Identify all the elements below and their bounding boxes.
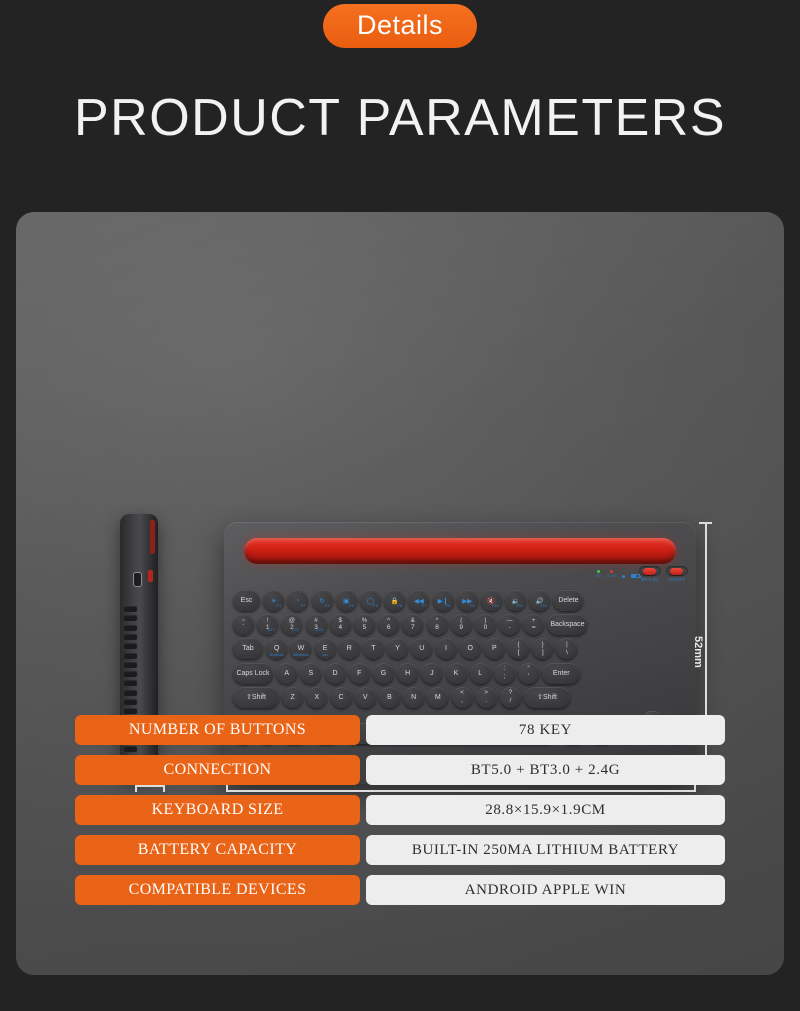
keyboard-row-qwerty: TabQAndroidWWindowsEiosRTYUIOP{[}]|\ bbox=[233, 638, 687, 659]
keyboard-key[interactable]: |\ bbox=[556, 638, 577, 659]
keyboard-key[interactable]: ◯F5 bbox=[360, 590, 381, 611]
key-secondary-legend: F8 bbox=[446, 604, 451, 608]
spec-label: CONNECTION bbox=[75, 755, 360, 785]
key-legend-stack: >. bbox=[484, 690, 488, 704]
key-secondary-legend: F11 bbox=[516, 604, 523, 608]
key-primary-legend: L bbox=[478, 670, 482, 677]
keyboard-key[interactable]: A bbox=[276, 663, 297, 684]
key-primary-legend: V bbox=[363, 694, 368, 701]
led-dot-icon bbox=[610, 570, 613, 573]
key-primary-legend: P bbox=[492, 645, 497, 652]
side-profile-key-edge bbox=[124, 615, 137, 621]
side-profile-key-edge bbox=[124, 643, 137, 649]
key-primary-legend: N bbox=[411, 694, 416, 701]
led-indicator-label: 2.4G bbox=[607, 574, 616, 578]
keyboard-key[interactable]: Tab bbox=[233, 638, 263, 659]
keyboard-key[interactable]: ☀F1 bbox=[263, 590, 284, 611]
keyboard-key[interactable]: Y bbox=[387, 638, 408, 659]
keyboard-key[interactable]: 🔊F12 bbox=[529, 590, 550, 611]
keyboard-key[interactable]: @2BT2 bbox=[281, 614, 302, 635]
switch-label: BT/2.4G bbox=[642, 577, 659, 582]
key-legend-stack: )0 bbox=[484, 618, 488, 632]
keyboard-key[interactable]: Caps Lock bbox=[233, 663, 273, 684]
dimension-tick-depth-top bbox=[699, 522, 712, 524]
key-secondary-legend: ios bbox=[315, 653, 336, 657]
spec-value: 78 KEY bbox=[366, 715, 725, 745]
keyboard-key[interactable]: ▶❙F8 bbox=[433, 590, 454, 611]
spec-value: BUILT-IN 250MA LITHIUM BATTERY bbox=[366, 835, 725, 865]
spec-label: COMPATIBLE DEVICES bbox=[75, 875, 360, 905]
side-profile-key-edge bbox=[124, 690, 137, 696]
keyboard-key[interactable]: ⇧Shift bbox=[524, 687, 570, 708]
key-legend-stack: {[ bbox=[518, 642, 520, 656]
key-legend-stack: <, bbox=[460, 690, 464, 704]
key-primary-legend: C bbox=[339, 694, 344, 701]
keyboard-key[interactable]: :; bbox=[494, 663, 515, 684]
keyboard-key[interactable]: —- bbox=[499, 614, 520, 635]
keyboard-key[interactable]: QAndroid bbox=[266, 638, 287, 659]
details-badge: Details bbox=[323, 4, 477, 48]
key-legend-stack: $4 bbox=[338, 618, 342, 632]
keyboard-row-shift: ⇧ShiftZXCVBNM<,>.?/⇧Shift bbox=[233, 687, 687, 708]
key-secondary-legend: BT1 bbox=[268, 628, 275, 632]
status-led-indicators: BT2.4G bbox=[596, 570, 640, 578]
keyboard-key[interactable]: U bbox=[411, 638, 432, 659]
keyboard-key[interactable]: Esc bbox=[233, 590, 260, 611]
key-primary-legend: S bbox=[309, 670, 314, 677]
key-secondary-legend: F1 bbox=[277, 604, 282, 608]
spec-value: 28.8×15.9×1.9CM bbox=[366, 795, 725, 825]
keyboard-key[interactable]: ↻F3 bbox=[312, 590, 333, 611]
spec-label: NUMBER OF BUTTONS bbox=[75, 715, 360, 745]
switch-label: ON/OFF bbox=[668, 577, 685, 582]
spec-row: CONNECTIONBT5.0 + BT3.0 + 2.4G bbox=[75, 755, 725, 785]
keyboard-key[interactable]: S bbox=[300, 663, 321, 684]
keyboard-key[interactable]: Eios bbox=[315, 638, 336, 659]
function-key-icon: ▫ bbox=[297, 597, 299, 604]
details-badge-container: Details bbox=[0, 0, 800, 48]
key-primary-legend: I bbox=[445, 645, 447, 652]
led-dot-icon bbox=[597, 570, 600, 573]
keyboard-key[interactable]: ▶▶F9 bbox=[457, 590, 478, 611]
keyboard-key[interactable]: I bbox=[436, 638, 457, 659]
keyboard-key[interactable]: Delete bbox=[553, 590, 583, 611]
side-profile-usb-port bbox=[133, 572, 142, 587]
keyboard-key[interactable]: 🔇F10 bbox=[481, 590, 502, 611]
key-primary-legend: X bbox=[315, 694, 320, 701]
side-profile-key-edge bbox=[124, 634, 137, 640]
keyboard-key[interactable]: ◀◀F7 bbox=[408, 590, 429, 611]
keyboard-key[interactable]: D bbox=[325, 663, 346, 684]
keyboard-key[interactable]: L bbox=[470, 663, 491, 684]
key-primary-legend: Tab bbox=[242, 645, 253, 652]
keyboard-key[interactable]: Z bbox=[282, 687, 303, 708]
keyboard-key[interactable]: O bbox=[460, 638, 481, 659]
key-primary-legend: Enter bbox=[553, 670, 570, 677]
key-secondary-legend: F6 bbox=[397, 604, 402, 608]
key-legend-stack: }] bbox=[542, 642, 544, 656]
key-legend-stack: ?/ bbox=[509, 690, 512, 704]
keyboard-key[interactable]: V bbox=[355, 687, 376, 708]
key-primary-legend: ⇧Shift bbox=[537, 694, 557, 701]
key-legend-stack: |\ bbox=[566, 642, 568, 656]
key-primary-legend: Y bbox=[395, 645, 400, 652]
key-secondary-legend: F7 bbox=[422, 604, 427, 608]
spec-value: BT5.0 + BT3.0 + 2.4G bbox=[366, 755, 725, 785]
led-indicator-label: BT bbox=[596, 574, 601, 578]
key-primary-legend: G bbox=[381, 670, 386, 677]
switch-knob[interactable] bbox=[643, 568, 656, 575]
keyboard-row-function: Esc☀F1▫F2↻F3▣F4◯F5🔒F6◀◀F7▶❙F8▶▶F9🔇F10🔉F1… bbox=[233, 590, 687, 611]
key-primary-legend: D bbox=[333, 670, 338, 677]
keyboard-key[interactable]: T bbox=[363, 638, 384, 659]
side-profile-key-edge bbox=[124, 662, 137, 668]
keyboard-key[interactable]: N bbox=[403, 687, 424, 708]
keyboard-key[interactable]: <, bbox=[452, 687, 473, 708]
bt-24g-mode-switch[interactable]: BT/2.4G bbox=[639, 566, 661, 582]
key-primary-legend: J bbox=[430, 670, 434, 677]
key-primary-legend: Z bbox=[291, 694, 295, 701]
key-primary-legend: R bbox=[347, 645, 352, 652]
key-secondary-legend: BT3 bbox=[316, 628, 323, 632]
keyboard-row-home: Caps LockASDFGHJKL:;"'Enter bbox=[233, 663, 687, 684]
keyboard-key[interactable]: G bbox=[373, 663, 394, 684]
spec-row: KEYBOARD SIZE28.8×15.9×1.9CM bbox=[75, 795, 725, 825]
key-legend-stack: += bbox=[532, 618, 536, 632]
keyboard-key[interactable]: ▫F2 bbox=[287, 590, 308, 611]
key-primary-legend: O bbox=[467, 645, 472, 652]
keyboard-row-numbers: ~`!1BT1@2BT2#3BT3$4%5^6&7*8(9)0—-+=Backs… bbox=[233, 614, 687, 635]
keyboard-key[interactable]: #3BT3 bbox=[306, 614, 327, 635]
keyboard-key[interactable]: K bbox=[446, 663, 467, 684]
key-secondary-legend: BT2 bbox=[292, 628, 299, 632]
spec-row: BATTERY CAPACITYBUILT-IN 250MA LITHIUM B… bbox=[75, 835, 725, 865]
key-primary-legend: F bbox=[357, 670, 361, 677]
specifications-table: NUMBER OF BUTTONS78 KEYCONNECTIONBT5.0 +… bbox=[75, 715, 725, 915]
spec-value: ANDROID APPLE WIN bbox=[366, 875, 725, 905]
key-legend-stack: (9 bbox=[459, 618, 463, 632]
spec-row: COMPATIBLE DEVICESANDROID APPLE WIN bbox=[75, 875, 725, 905]
keyboard-key[interactable]: Enter bbox=[542, 663, 580, 684]
led-indicator: BT bbox=[596, 570, 601, 578]
keyboard-key[interactable]: 🔉F11 bbox=[505, 590, 526, 611]
product-parameters-card: BT2.4G BT/2.4GON/OFF Esc☀F1▫F2↻F3▣F4◯F5🔒… bbox=[16, 212, 784, 975]
key-secondary-legend: F9 bbox=[470, 604, 475, 608]
key-secondary-legend: Android bbox=[266, 653, 287, 657]
keyboard-key[interactable]: P bbox=[484, 638, 505, 659]
device-holder-groove bbox=[244, 538, 676, 564]
keyboard-key[interactable]: ▣F4 bbox=[336, 590, 357, 611]
key-legend-stack: *8 bbox=[435, 618, 439, 632]
key-legend-stack: ^6 bbox=[387, 618, 391, 632]
spec-label: BATTERY CAPACITY bbox=[75, 835, 360, 865]
key-secondary-legend: F3 bbox=[325, 604, 330, 608]
key-primary-legend: K bbox=[454, 670, 459, 677]
led-indicator: 2.4G bbox=[607, 570, 616, 578]
key-primary-legend: Esc bbox=[241, 597, 253, 604]
keyboard-key[interactable]: += bbox=[523, 614, 544, 635]
side-profile-key-edge bbox=[124, 708, 137, 714]
spec-label: KEYBOARD SIZE bbox=[75, 795, 360, 825]
keyboard-key[interactable]: R bbox=[339, 638, 360, 659]
key-legend-stack: &7 bbox=[411, 618, 415, 632]
keyboard-key[interactable]: J bbox=[421, 663, 442, 684]
key-primary-legend: Caps Lock bbox=[236, 670, 269, 677]
keyboard-key[interactable]: *8 bbox=[427, 614, 448, 635]
key-secondary-legend: Windows bbox=[290, 653, 311, 657]
keyboard-key[interactable]: &7 bbox=[402, 614, 423, 635]
key-primary-legend: ⇧Shift bbox=[246, 694, 266, 701]
keyboard-key[interactable]: B bbox=[379, 687, 400, 708]
keyboard-key[interactable]: $4 bbox=[330, 614, 351, 635]
led-dot-icon bbox=[622, 575, 625, 578]
keyboard-key[interactable]: ⇧Shift bbox=[233, 687, 279, 708]
keyboard-key[interactable]: !1BT1 bbox=[257, 614, 278, 635]
key-legend-stack: —- bbox=[507, 618, 513, 632]
keyboard-key[interactable]: X bbox=[306, 687, 327, 708]
side-profile-key-edge bbox=[124, 680, 137, 686]
key-primary-legend: Backspace bbox=[550, 621, 584, 628]
keyboard-key[interactable]: 🔒F6 bbox=[384, 590, 405, 611]
key-primary-legend: A bbox=[284, 670, 289, 677]
keyboard-key[interactable]: %5 bbox=[354, 614, 375, 635]
key-secondary-legend: F4 bbox=[349, 604, 354, 608]
key-secondary-legend: F5 bbox=[373, 604, 378, 608]
keyboard-key[interactable]: {[ bbox=[508, 638, 529, 659]
keyboard-key[interactable]: (9 bbox=[451, 614, 472, 635]
keyboard-key[interactable]: M bbox=[427, 687, 448, 708]
switch-track[interactable] bbox=[666, 566, 688, 576]
key-primary-legend: Delete bbox=[558, 597, 578, 604]
keyboard-key[interactable]: C bbox=[331, 687, 352, 708]
key-legend-stack: "' bbox=[527, 666, 529, 680]
key-primary-legend: U bbox=[419, 645, 424, 652]
page-title: PRODUCT PARAMETERS bbox=[0, 88, 800, 148]
keyboard-key[interactable]: >. bbox=[476, 687, 497, 708]
keyboard-key[interactable]: ~` bbox=[233, 614, 254, 635]
key-legend-stack: %5 bbox=[362, 618, 367, 632]
side-profile-red-accent-mid bbox=[148, 570, 153, 582]
led-indicator bbox=[622, 575, 625, 578]
keyboard-key[interactable]: }] bbox=[532, 638, 553, 659]
keyboard-key[interactable]: WWindows bbox=[290, 638, 311, 659]
key-legend-stack: :; bbox=[503, 666, 505, 680]
power-on-off-switch[interactable]: ON/OFF bbox=[666, 566, 688, 582]
keyboard-key[interactable]: F bbox=[349, 663, 370, 684]
key-secondary-legend: F12 bbox=[540, 604, 547, 608]
keyboard-key[interactable]: H bbox=[397, 663, 418, 684]
key-legend-stack: ~` bbox=[242, 618, 246, 632]
keyboard-key[interactable]: Backspace bbox=[547, 614, 587, 635]
keyboard-key[interactable]: )0 bbox=[475, 614, 496, 635]
spec-row: NUMBER OF BUTTONS78 KEY bbox=[75, 715, 725, 745]
side-profile-key-edge bbox=[124, 699, 137, 705]
keyboard-key[interactable]: ?/ bbox=[500, 687, 521, 708]
key-secondary-legend: F10 bbox=[492, 604, 499, 608]
key-secondary-legend: F2 bbox=[301, 604, 306, 608]
product-photo-area: BT2.4G BT/2.4GON/OFF Esc☀F1▫F2↻F3▣F4◯F5🔒… bbox=[16, 212, 784, 632]
side-profile-key-edge bbox=[124, 606, 137, 612]
key-primary-legend: M bbox=[435, 694, 441, 701]
mode-power-switches[interactable]: BT/2.4GON/OFF bbox=[639, 566, 688, 582]
dimension-label-depth: 52mm bbox=[692, 636, 704, 668]
side-profile-red-accent-top bbox=[150, 520, 155, 554]
key-primary-legend: H bbox=[405, 670, 410, 677]
side-profile-key-edge bbox=[124, 671, 137, 677]
key-primary-legend: B bbox=[387, 694, 392, 701]
switch-track[interactable] bbox=[639, 566, 661, 576]
side-profile-key-edge bbox=[124, 625, 137, 631]
key-primary-legend: T bbox=[371, 645, 375, 652]
keyboard-key[interactable]: ^6 bbox=[378, 614, 399, 635]
keyboard-key[interactable]: "' bbox=[518, 663, 539, 684]
switch-knob[interactable] bbox=[670, 568, 683, 575]
side-profile-key-edge bbox=[124, 653, 137, 659]
